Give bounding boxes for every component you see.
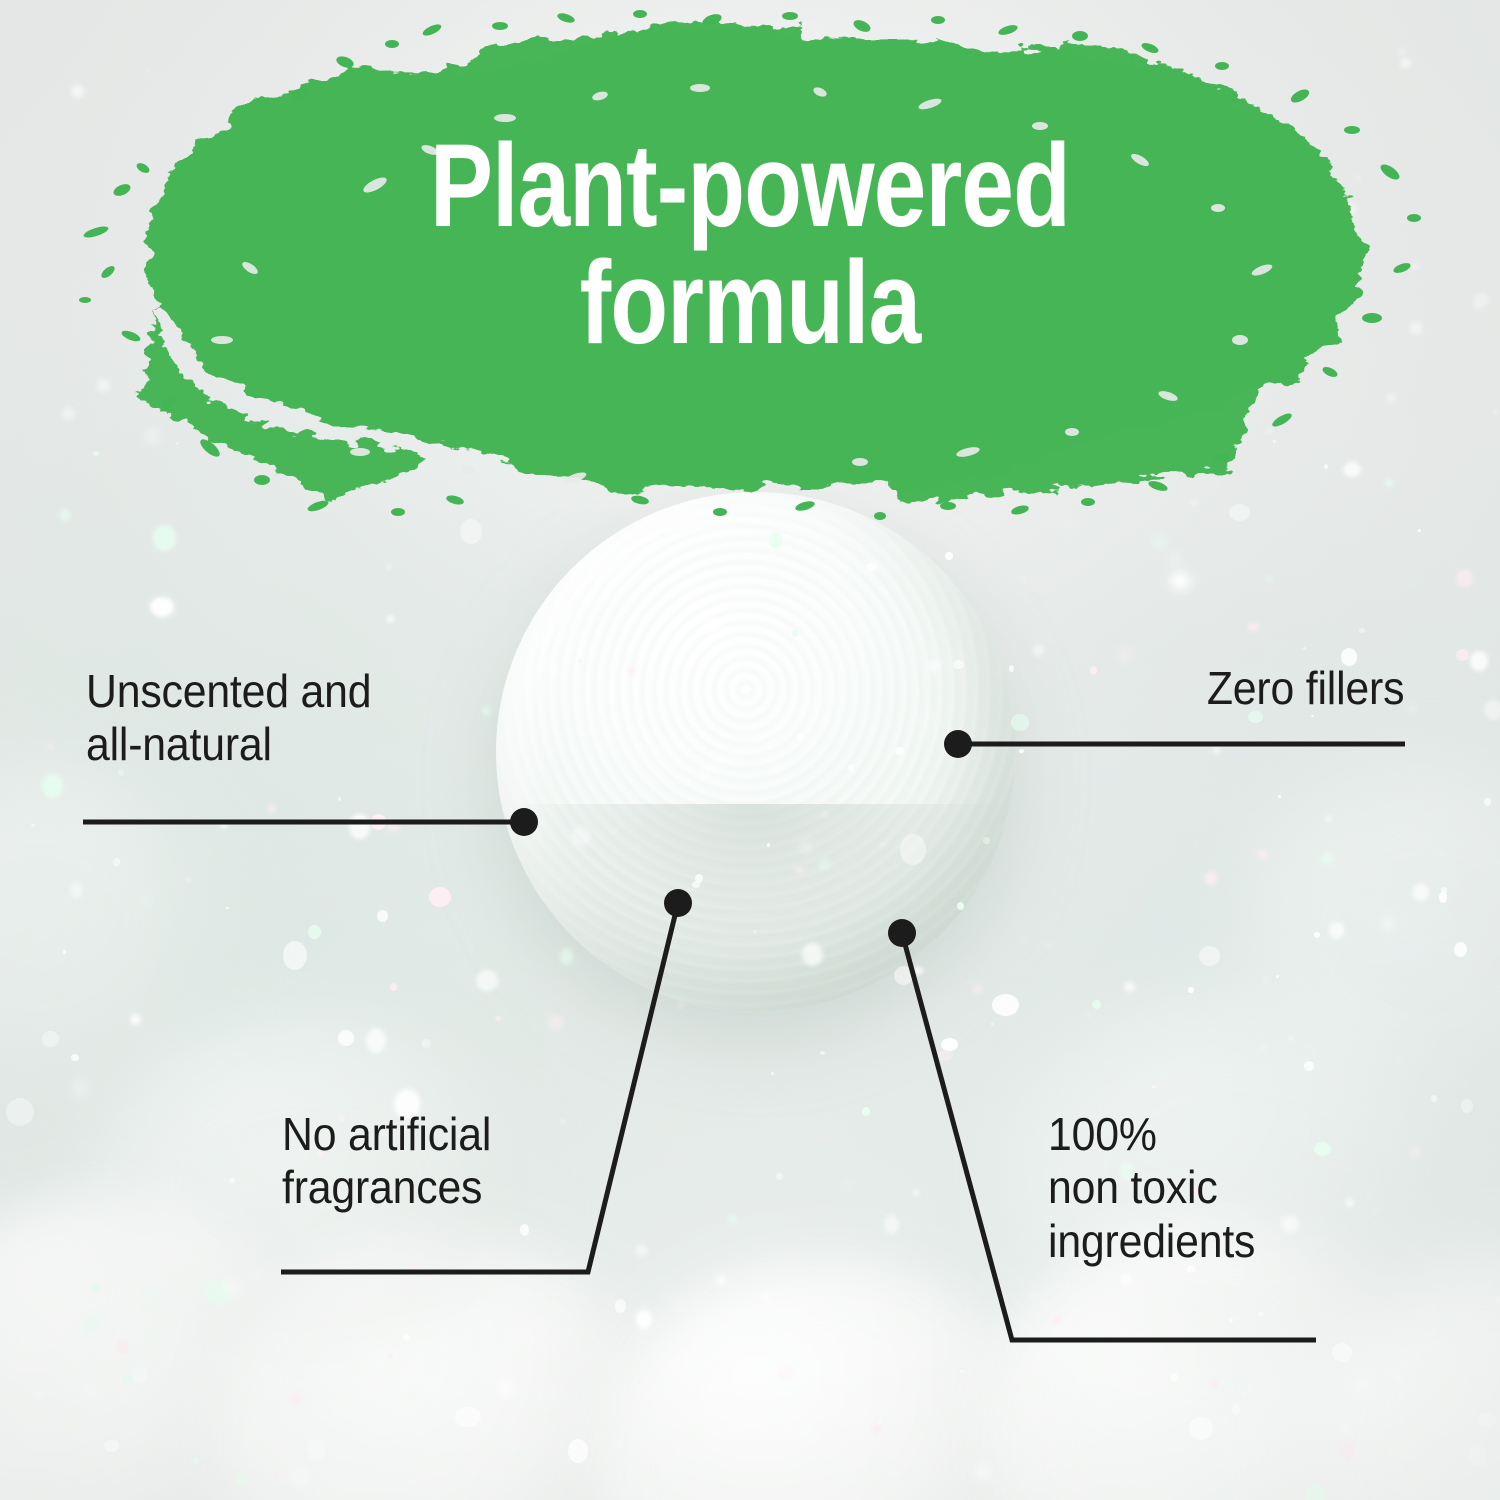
headline-line-2: formula <box>150 245 1350 362</box>
callout-label-zero-fillers: Zero fillers <box>1207 662 1404 715</box>
callout-label-unscented: Unscented and all-natural <box>86 665 371 772</box>
headline-line-1: Plant-powered <box>150 128 1350 245</box>
callout-label-fragrances: No artificial fragrances <box>282 1108 491 1215</box>
product-dryer-ball <box>496 492 1016 1012</box>
page-title: Plant-powered formula <box>150 128 1350 362</box>
ball-rim-shading <box>496 492 1016 1012</box>
callout-label-non-toxic: 100% non toxic ingredients <box>1048 1108 1255 1268</box>
product-feature-image: Plant-powered formula Unscented and all-… <box>0 0 1500 1500</box>
